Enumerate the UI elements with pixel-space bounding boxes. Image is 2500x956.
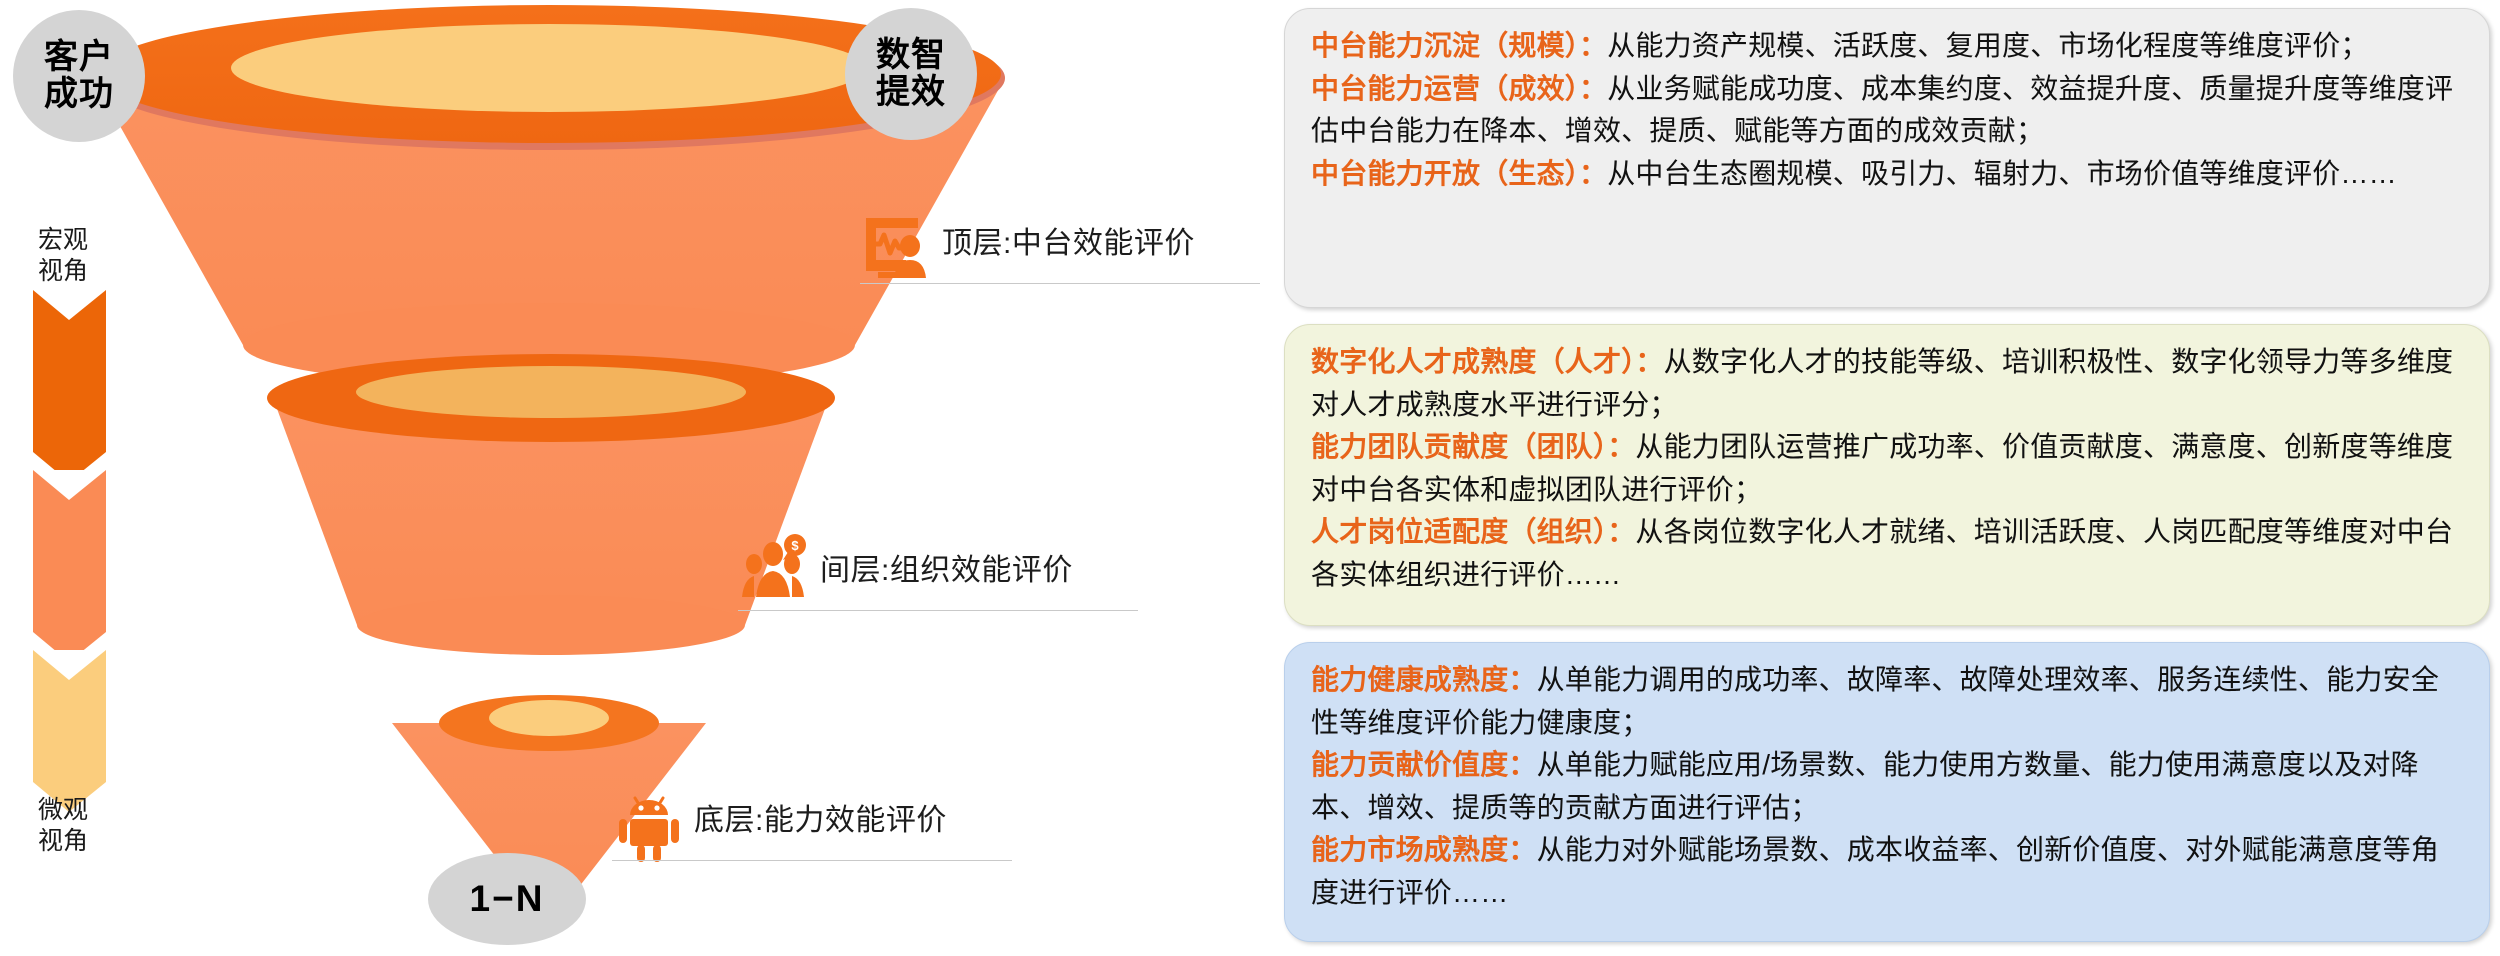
bubble-one-to-n-label: 1−N [470, 879, 545, 919]
note-line-heading: 数字化人才成熟度（人才）： [1311, 346, 1664, 377]
layer-top-label: 顶层:中台效能评价 [942, 218, 1195, 262]
funnel-bottom-opening [489, 700, 609, 736]
funnel-diagram: $ 客户成功 数智提效 1−N [0, 0, 1270, 956]
funnel-top-opening [231, 24, 867, 112]
note-line-heading: 能力健康成熟度： [1311, 664, 1537, 695]
note-line-heading: 中台能力开放（生态）： [1311, 158, 1607, 189]
layer-caption-top: 顶层:中台效能评价 [860, 208, 1195, 272]
note-line: 中台能力运营（成效）：从业务赋能成功度、成本集约度、效益提升度、质量提升度等维度… [1311, 68, 2463, 153]
note-line-heading: 能力团队贡献度（团队）： [1311, 431, 1635, 462]
bubble-smart-efficiency: 数智提效 [845, 8, 977, 140]
layer-middle-icon-slot [738, 535, 802, 599]
diagram-root: $ 客户成功 数智提效 1−N [0, 0, 2500, 956]
layer-middle-rule [738, 610, 1138, 611]
notes-panel: 中台能力沉淀（规模）：从能力资产规模、活跃度、复用度、市场化程度等维度评价；中台… [1284, 8, 2490, 948]
funnel-mid-opening [356, 366, 746, 418]
macro-view-text: 宏观视角 [38, 226, 88, 285]
layer-top-icon-slot [860, 208, 924, 272]
note-line: 能力健康成熟度：从单能力调用的成功率、故障率、故障处理效率、服务连续性、能力安全… [1311, 659, 2463, 744]
note-line: 中台能力开放（生态）：从中台生态圈规模、吸引力、辐射力、市场价值等维度评价…… [1311, 153, 2463, 196]
note-line: 能力团队贡献度（团队）：从能力团队运营推广成功率、价值贡献度、满意度、创新度等维… [1311, 426, 2463, 511]
layer-caption-middle: 间层:组织效能评价 [738, 535, 1073, 599]
bubble-customer-success-label: 客户成功 [44, 39, 114, 112]
note-line-heading: 中台能力沉淀（规模）： [1311, 30, 1607, 61]
layer-bottom-icon-slot [612, 785, 676, 849]
bubble-one-to-n: 1−N [428, 853, 586, 945]
note-line: 数字化人才成熟度（人才）：从数字化人才的技能等级、培训积极性、数字化领导力等多维… [1311, 341, 2463, 426]
note-line-body: 从能力资产规模、活跃度、复用度、市场化程度等维度评价； [1607, 30, 2368, 61]
note-bottom-layer: 能力健康成熟度：从单能力调用的成功率、故障率、故障处理效率、服务连续性、能力安全… [1284, 642, 2490, 942]
note-line-heading: 能力贡献价值度： [1311, 749, 1537, 780]
note-top-layer: 中台能力沉淀（规模）：从能力资产规模、活跃度、复用度、市场化程度等维度评价；中台… [1284, 8, 2490, 308]
micro-view-label: 微观视角 [18, 795, 108, 856]
bubble-customer-success: 客户成功 [13, 10, 145, 142]
layer-caption-bottom: 底层:能力效能评价 [612, 785, 947, 849]
macro-view-label: 宏观视角 [18, 225, 108, 286]
note-middle-layer: 数字化人才成熟度（人才）：从数字化人才的技能等级、培训积极性、数字化领导力等多维… [1284, 324, 2490, 626]
funnel-mid-bottom-ellipse [357, 595, 745, 655]
micro-view-text: 微观视角 [38, 796, 88, 855]
note-line-body: 从中台生态圈规模、吸引力、辐射力、市场价值等维度评价…… [1607, 158, 2397, 189]
layer-bottom-label: 底层:能力效能评价 [694, 795, 947, 839]
layer-top-rule [860, 283, 1260, 284]
note-line-heading: 人才岗位适配度（组织）： [1311, 516, 1635, 547]
note-line-heading: 能力市场成熟度： [1311, 834, 1537, 865]
layer-bottom-rule [612, 860, 1012, 861]
bubble-smart-efficiency-label: 数智提效 [876, 37, 946, 110]
layer-middle-label: 间层:组织效能评价 [820, 545, 1073, 589]
note-line-heading: 中台能力运营（成效）： [1311, 73, 1607, 104]
note-line: 能力市场成熟度：从能力对外赋能场景数、成本收益率、创新价值度、对外赋能满意度等角… [1311, 829, 2463, 914]
note-line: 人才岗位适配度（组织）：从各岗位数字化人才就绪、培训活跃度、人岗匹配度等维度对中… [1311, 511, 2463, 596]
note-line: 能力贡献价值度：从单能力赋能应用/场景数、能力使用方数量、能力使用满意度以及对降… [1311, 744, 2463, 829]
note-line: 中台能力沉淀（规模）：从能力资产规模、活跃度、复用度、市场化程度等维度评价； [1311, 25, 2463, 68]
